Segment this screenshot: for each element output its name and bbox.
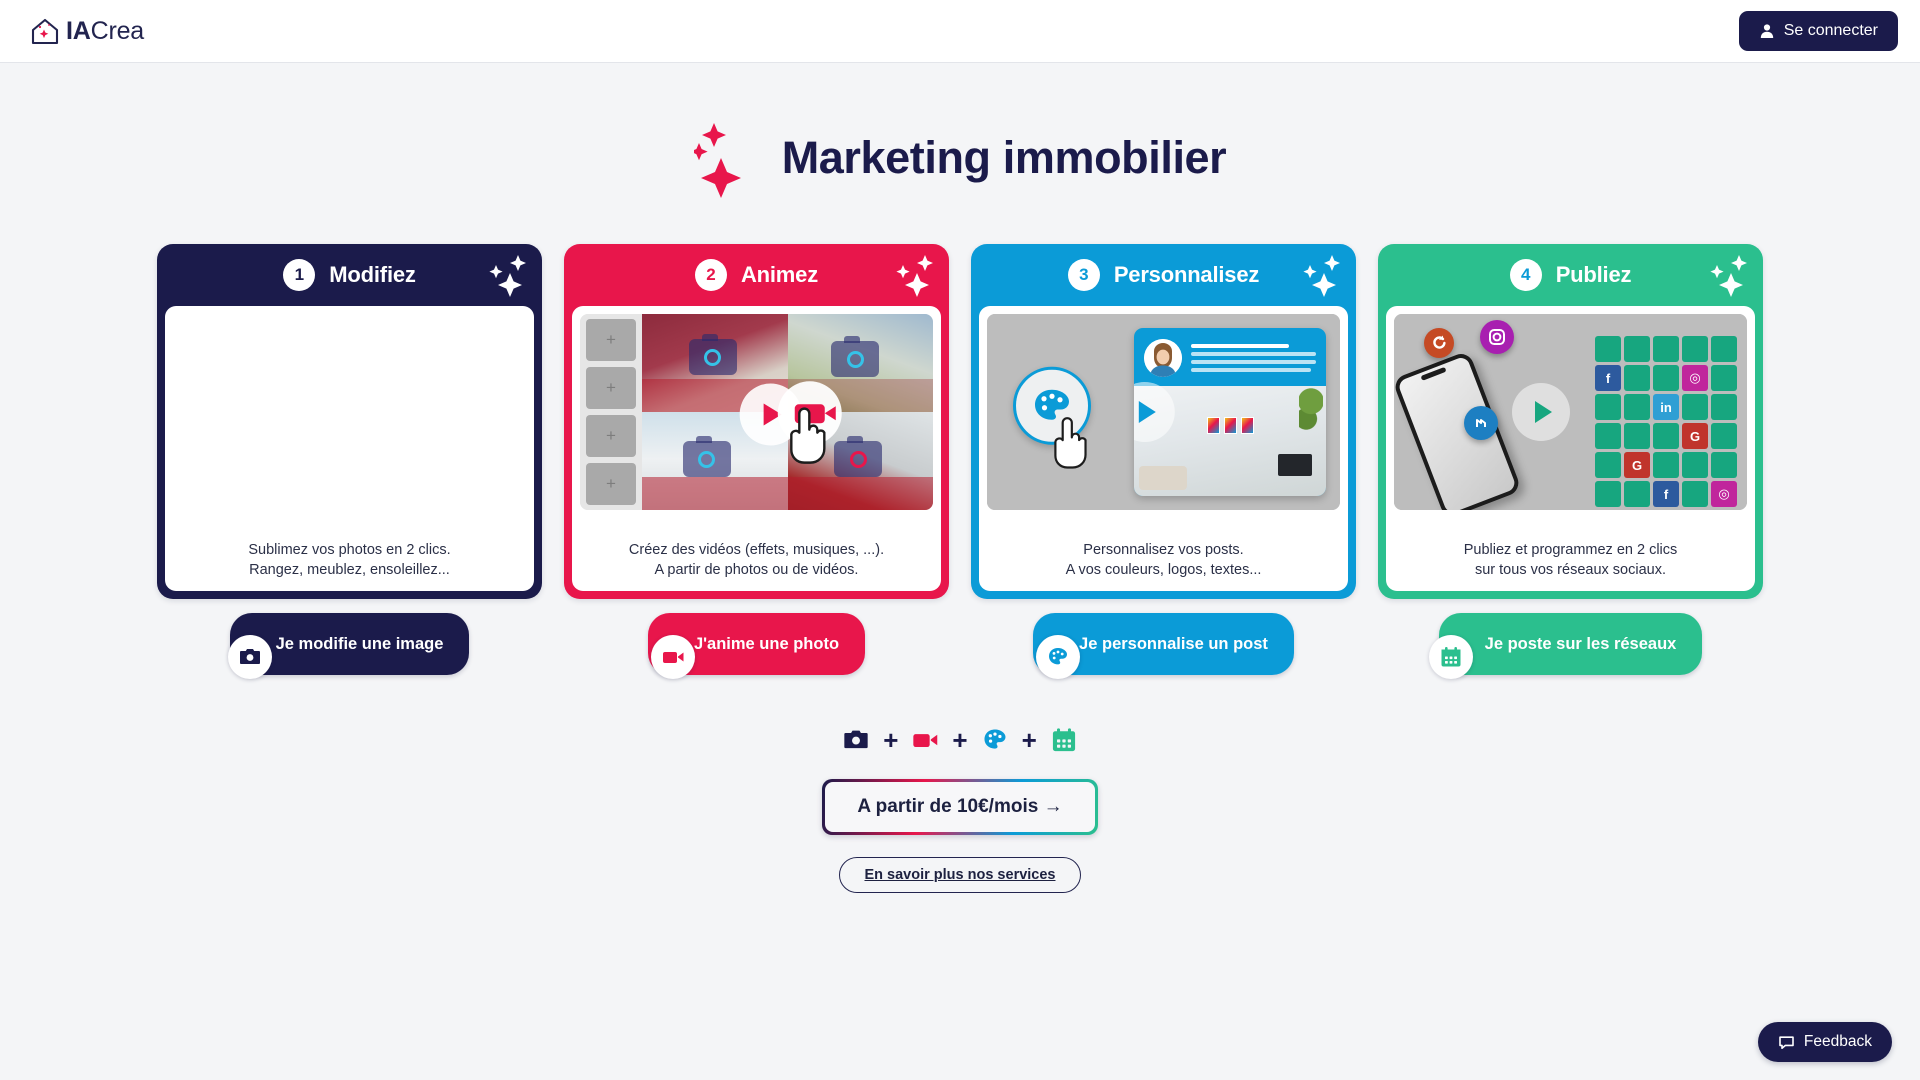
sparkles-icon (1294, 253, 1342, 297)
media-slot-strip: + + + + (580, 314, 642, 510)
calendar-cell (1682, 336, 1708, 362)
card-description-line-1: Personnalisez vos posts. (987, 540, 1340, 561)
user-icon (1759, 23, 1775, 39)
pricing-button[interactable]: A partir de 10€/mois → (822, 779, 1097, 835)
plus-separator: + (952, 727, 967, 753)
card-cta-zone: J'anime une photo (564, 613, 949, 675)
plus-separator: + (883, 727, 898, 753)
step-card-modifiez: 1 Modifiez Sublimez vos photos en 2 clic… (157, 244, 542, 675)
media-slot: + (586, 415, 636, 457)
calendar-cell (1711, 394, 1737, 420)
phone-mockup (1394, 350, 1522, 510)
card-header: 1 Modifiez (157, 244, 542, 306)
calendar-cell-fb: f (1653, 481, 1679, 507)
sparkles-icon (480, 253, 528, 297)
sparkles-icon (694, 118, 764, 198)
calendar-cell (1711, 365, 1737, 391)
card-preview-image (173, 314, 526, 510)
calendar-cell (1595, 481, 1621, 507)
photo-grid (642, 314, 933, 510)
card-description: Sublimez vos photos en 2 clics. Rangez, … (173, 528, 526, 581)
calendar-icon (1429, 635, 1473, 679)
calendar-cell (1595, 336, 1621, 362)
calendar-cell (1653, 365, 1679, 391)
card-container: 1 Modifiez Sublimez vos photos en 2 clic… (157, 244, 542, 599)
card-title: Modifiez (329, 262, 415, 288)
calendar-cell (1682, 452, 1708, 478)
card-title: Animez (741, 262, 818, 288)
card-description-line-2: A partir de photos ou de vidéos. (580, 560, 933, 581)
video-icon (651, 635, 695, 679)
play-icon (1512, 383, 1570, 441)
step-number-badge: 2 (695, 259, 727, 291)
sparkles-icon (887, 253, 935, 297)
calendar-cell (1653, 336, 1679, 362)
login-button[interactable]: Se connecter (1739, 11, 1898, 51)
social-icon (1424, 328, 1454, 358)
chat-bubble-icon (1778, 1034, 1795, 1051)
card-description-line-1: Créez des vidéos (effets, musiques, ...)… (580, 540, 933, 561)
pricing-button-label: A partir de 10€/mois → (825, 782, 1094, 832)
calendar-cell-li: in (1653, 394, 1679, 420)
camera-icon (831, 341, 879, 377)
card-container: 2 Animez + + + (564, 244, 949, 599)
page-title: Marketing immobilier (782, 132, 1227, 184)
card-description-line-1: Sublimez vos photos en 2 clics. (173, 540, 526, 561)
calendar-cell (1653, 452, 1679, 478)
card-body: Sublimez vos photos en 2 clics. Rangez, … (165, 306, 534, 591)
brand-name-bold: IA (66, 17, 91, 45)
pricing-section: + + + (0, 723, 1920, 893)
login-button-label: Se connecter (1784, 22, 1878, 40)
step-number-badge: 4 (1510, 259, 1542, 291)
camera-icon (834, 441, 882, 477)
card-preview-image (987, 314, 1340, 510)
palette-icon (1036, 635, 1080, 679)
calendar-cell-ig: ◎ (1711, 481, 1737, 507)
card-header: 2 Animez (564, 244, 949, 306)
card-preview-image: + + + + (580, 314, 933, 510)
brand-logo-link[interactable]: IACrea (28, 14, 144, 48)
card-header: 3 Personnalisez (971, 244, 1356, 306)
palette-icon (981, 726, 1009, 754)
card-preview-image: f◎inGGf◎in (1394, 314, 1747, 510)
brand-name-light: Crea (91, 17, 144, 45)
app-icon (1464, 406, 1498, 440)
post-text-lines (1191, 344, 1316, 372)
feedback-button-label: Feedback (1804, 1033, 1872, 1051)
calendar-cell (1682, 394, 1708, 420)
publishing-calendar-grid: f◎inGGf◎in (1595, 336, 1737, 510)
card-description-line-2: sur tous vos réseaux sociaux. (1394, 560, 1747, 581)
calendar-cell-ig: ◎ (1682, 365, 1708, 391)
calendar-cell (1653, 423, 1679, 449)
camera-icon (842, 726, 870, 754)
wall-art-frames (1207, 417, 1254, 434)
calendar-cell (1595, 452, 1621, 478)
card-header: 4 Publiez (1378, 244, 1763, 306)
hand-cursor-icon (784, 403, 830, 470)
card-description: Personnalisez vos posts. A vos couleurs,… (987, 528, 1340, 581)
top-navigation-bar: IACrea Se connecter (0, 0, 1920, 63)
publish-networks-button[interactable]: Je poste sur les réseaux (1439, 613, 1703, 675)
card-description-line-1: Publiez et programmez en 2 clics (1394, 540, 1747, 561)
camera-icon (689, 339, 737, 375)
calendar-cell (1624, 365, 1650, 391)
calendar-icon (1050, 726, 1078, 754)
media-slot: + (586, 367, 636, 409)
card-cta-zone: Je poste sur les réseaux (1378, 613, 1763, 675)
card-description-line-2: Rangez, meublez, ensoleillez... (173, 560, 526, 581)
step-number-badge: 3 (1068, 259, 1100, 291)
card-body: + + + + (572, 306, 941, 591)
step-card-personnalisez: 3 Personnalisez (971, 244, 1356, 675)
card-description-line-2: A vos couleurs, logos, textes... (987, 560, 1340, 581)
calendar-cell (1595, 423, 1621, 449)
learn-more-services-button[interactable]: En savoir plus nos services (839, 857, 1080, 893)
calendar-cell (1711, 423, 1737, 449)
card-cta-zone: Je personnalise un post (971, 613, 1356, 675)
card-cta-zone: Je modifie une image (157, 613, 542, 675)
sparkles-icon (1701, 253, 1749, 297)
calendar-cell (1682, 481, 1708, 507)
step-card-publiez: 4 Publiez (1378, 244, 1763, 675)
instagram-icon (1480, 320, 1514, 354)
calendar-cell-gg: G (1624, 452, 1650, 478)
calendar-cell (1711, 452, 1737, 478)
card-container: 4 Publiez (1378, 244, 1763, 599)
step-card-animez: 2 Animez + + + (564, 244, 949, 675)
calendar-cell (1624, 423, 1650, 449)
plus-separator: + (1022, 727, 1037, 753)
calendar-cell (1624, 394, 1650, 420)
card-body: Personnalisez vos posts. A vos couleurs,… (979, 306, 1348, 591)
house-sparkle-logo-icon (28, 14, 62, 48)
card-body: f◎inGGf◎in Publiez et programmez en 2 cl… (1386, 306, 1755, 591)
card-container: 3 Personnalisez (971, 244, 1356, 599)
calendar-cell (1711, 336, 1737, 362)
calendar-cell (1595, 394, 1621, 420)
page-title-row: Marketing immobilier (0, 118, 1920, 198)
card-description: Créez des vidéos (effets, musiques, ...)… (580, 528, 933, 581)
steps-cards-row: 1 Modifiez Sublimez vos photos en 2 clic… (0, 244, 1920, 675)
step-number-badge: 1 (283, 259, 315, 291)
social-post-mockup (1134, 328, 1326, 496)
video-icon (911, 726, 939, 754)
feedback-button[interactable]: Feedback (1758, 1022, 1892, 1062)
card-description: Publiez et programmez en 2 clics sur tou… (1394, 528, 1747, 581)
hand-cursor-icon (1049, 412, 1091, 475)
camera-icon (228, 635, 272, 679)
calendar-cell (1624, 336, 1650, 362)
brand-wordmark: IACrea (66, 19, 144, 44)
camera-icon (683, 441, 731, 477)
calendar-cell-fb: f (1595, 365, 1621, 391)
card-title: Publiez (1556, 262, 1632, 288)
media-slot: + (586, 319, 636, 361)
calendar-cell-gg: G (1682, 423, 1708, 449)
avatar (1144, 339, 1182, 377)
features-formula-row: + + + (0, 723, 1920, 757)
card-title: Personnalisez (1114, 262, 1259, 288)
calendar-cell (1624, 481, 1650, 507)
media-slot: + (586, 463, 636, 505)
